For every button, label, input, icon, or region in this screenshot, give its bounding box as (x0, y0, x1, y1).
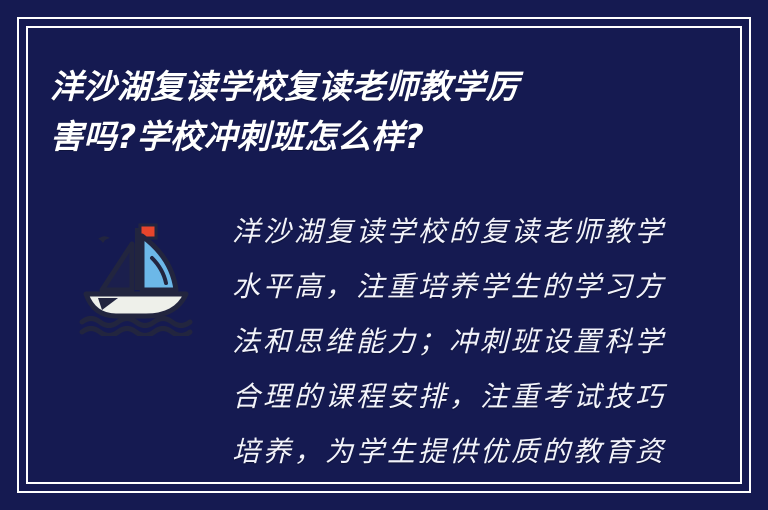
body-paragraph: 洋沙湖复读学校的复读老师教学 水平高，注重培养学生的学习方 法和思维能力；冲刺班… (232, 204, 652, 479)
wave-line-1 (82, 319, 190, 326)
body-line-3: 法和思维能力；冲刺班设置科学 (232, 314, 652, 369)
body-line-1: 洋沙湖复读学校的复读老师教学 (232, 204, 652, 259)
content-area: 洋沙湖复读学校的复读老师教学 水平高，注重培养学生的学习方 法和思维能力；冲刺班… (0, 196, 768, 510)
body-line-4: 合理的课程安排，注重考试技巧 (232, 369, 652, 424)
poster-canvas: 洋沙湖复读学校复读老师教学厉 害吗?学校冲刺班怎么样? (0, 0, 768, 510)
sailboat-icon (72, 206, 200, 336)
headline-title: 洋沙湖复读学校复读老师教学厉 害吗?学校冲刺班怎么样? (50, 62, 690, 162)
body-line-2: 水平高，注重培养学生的学习方 (232, 259, 652, 314)
wave-line-2 (82, 329, 190, 336)
bird-shape (98, 236, 110, 243)
jib-sail-shape (102, 244, 132, 290)
body-line-5: 培养，为学生提供优质的教育资 (232, 424, 652, 479)
headline-line-1: 洋沙湖复读学校复读老师教学厉 (50, 62, 690, 112)
mainsail-shape (142, 236, 176, 290)
headline-line-2: 害吗?学校冲刺班怎么样? (50, 112, 690, 162)
